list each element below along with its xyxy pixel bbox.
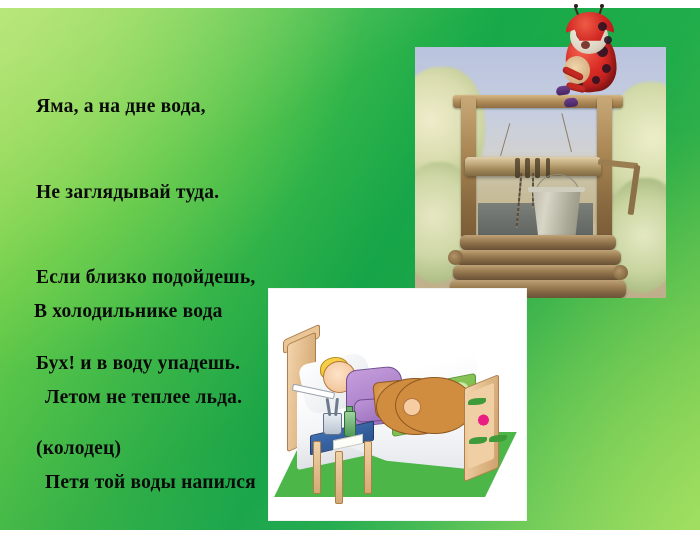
ladybug-spot-3 <box>592 76 600 84</box>
slide-canvas: Яма, а на дне вода, Не заглядывай туда. … <box>0 0 700 548</box>
footboard-flower <box>472 405 495 435</box>
riddle-cold-line-2: Летом не теплее льда. <box>34 384 256 413</box>
riddle-well-line-2: Не заглядывай туда. <box>36 179 255 208</box>
ladybug-hood-spot-1 <box>598 22 607 31</box>
riddle-cold-line-3: Петя той воды напился <box>34 469 256 498</box>
ladybug-antenna-tip-right <box>600 4 604 8</box>
ladybug-antenna-tip-left <box>574 4 578 8</box>
rope-turn-3 <box>535 158 540 177</box>
ladybug-hood-spot-2 <box>604 36 612 44</box>
ladybug-mouth <box>581 41 590 49</box>
well-log-3 <box>453 265 624 280</box>
ladybug-shoe-left <box>555 85 570 96</box>
table-leg-3 <box>364 441 372 494</box>
bucket-rim <box>528 187 584 193</box>
well-log-2 <box>455 250 621 265</box>
medicine-bottle <box>344 411 356 436</box>
riddle-cold-text: В холодильнике вода Летом не теплее льда… <box>34 241 256 548</box>
boy-hand <box>403 398 422 416</box>
sick-boy-illustration <box>268 288 527 521</box>
riddle-cold-line-1: В холодильнике вода <box>34 298 256 327</box>
ladybug-shoe-right <box>564 97 579 107</box>
table-leg-1 <box>313 441 321 494</box>
rope-turn-2 <box>525 158 530 177</box>
ladybug-spot-2 <box>602 64 611 73</box>
ladybug-character <box>540 10 636 116</box>
riddle-well-line-1: Яма, а на дне вода, <box>36 93 255 122</box>
well-log-cap-left <box>448 250 463 265</box>
well-log-1 <box>460 235 616 250</box>
medicine-cup <box>323 413 342 436</box>
table-leg-2 <box>335 451 343 504</box>
